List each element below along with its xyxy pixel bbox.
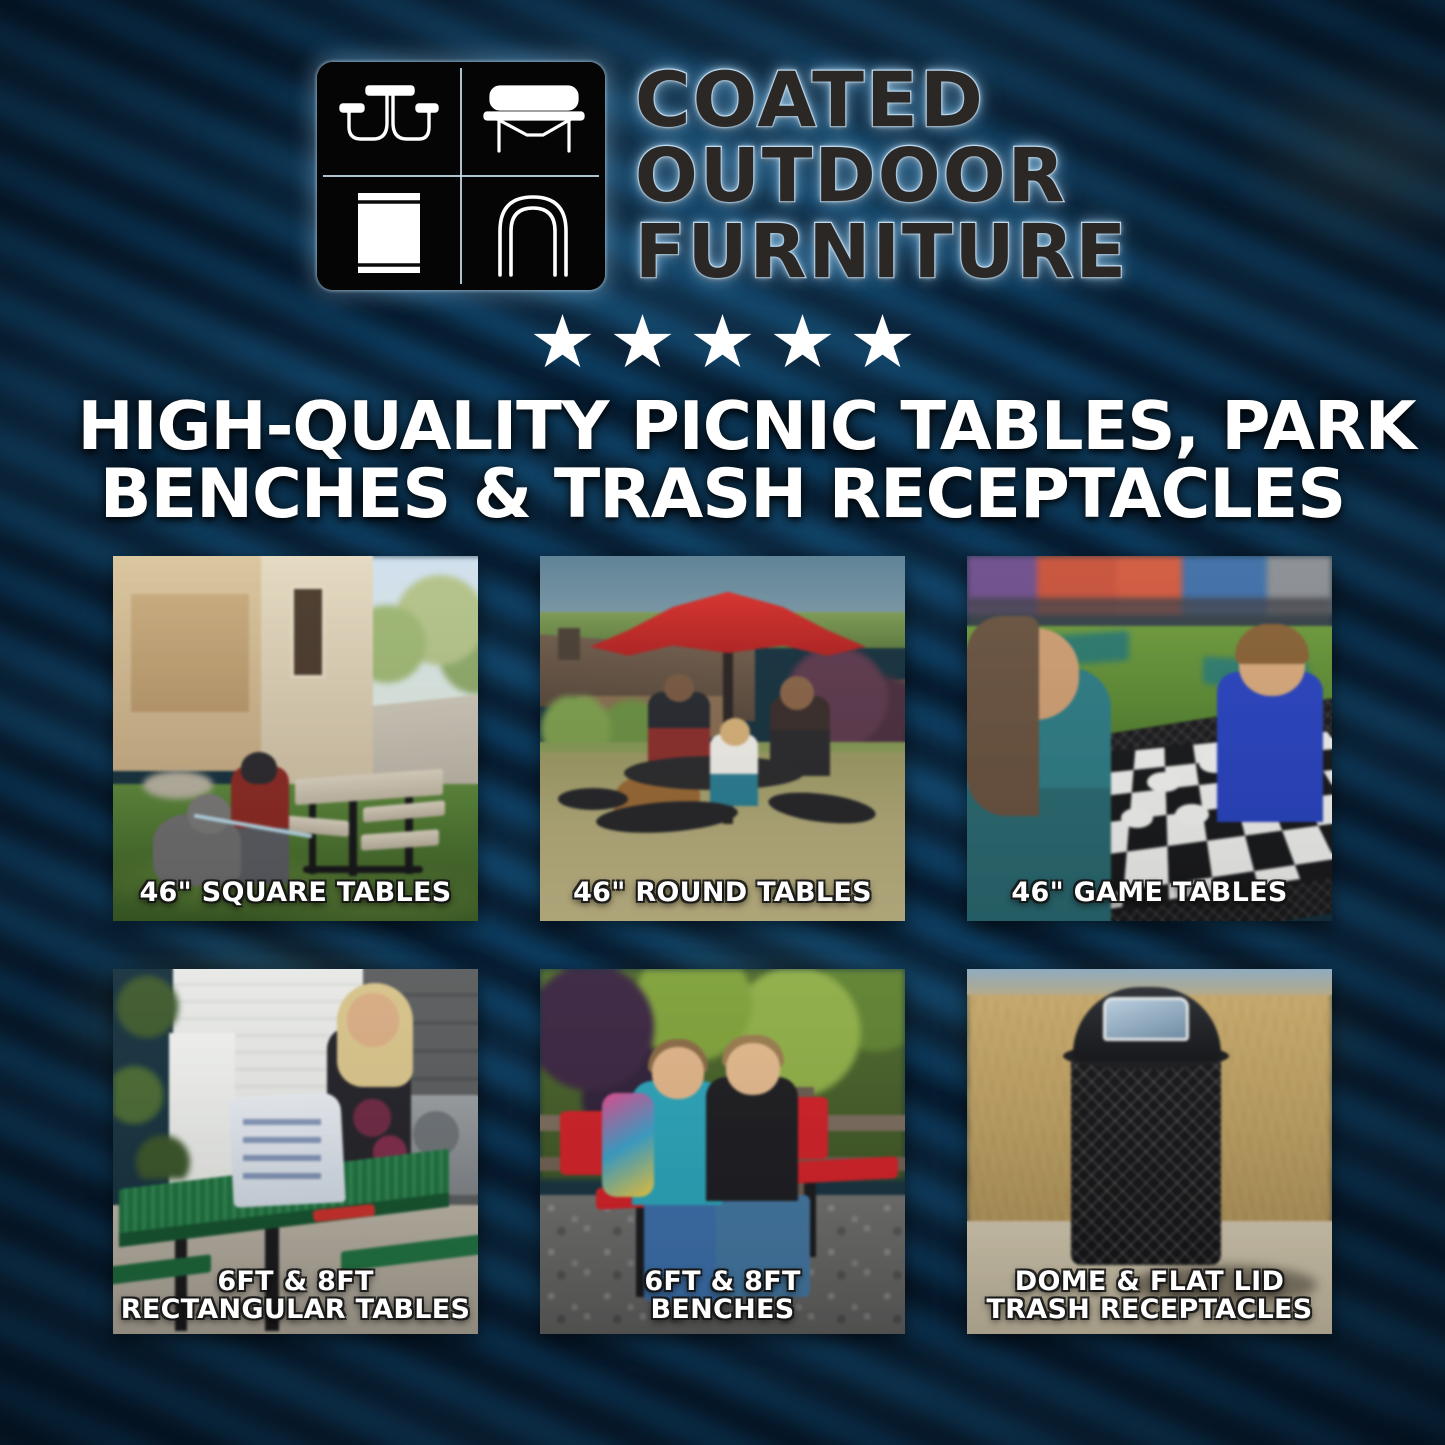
poster-content: COATED OUTDOOR FURNITURE HIGH-QUALITY PI… xyxy=(0,0,1445,1445)
brand-word-1: COATED xyxy=(635,63,1128,137)
product-photo-square-tables xyxy=(113,556,478,921)
product-card-game-tables[interactable]: 46" GAME TABLES xyxy=(967,556,1332,921)
product-grid: 46" SQUARE TABLES xyxy=(105,556,1340,1334)
star-icon-3 xyxy=(694,314,752,370)
product-caption-square-tables: 46" SQUARE TABLES xyxy=(113,879,478,907)
product-card-round-tables[interactable]: 46" ROUND TABLES xyxy=(540,556,905,921)
caption-line: 46" ROUND TABLES xyxy=(546,879,899,907)
product-card-rectangular-tables[interactable]: 6FT & 8FT RECTANGULAR TABLES xyxy=(113,969,478,1334)
product-caption-benches: 6FT & 8FT BENCHES xyxy=(540,1268,905,1324)
picnic-table-icon xyxy=(317,62,461,176)
bench-icon xyxy=(461,62,605,176)
star-icon-1 xyxy=(534,314,592,370)
product-card-square-tables[interactable]: 46" SQUARE TABLES xyxy=(113,556,478,921)
brand-logo-lockup[interactable]: COATED OUTDOOR FURNITURE xyxy=(317,62,1128,290)
star-rating xyxy=(534,314,912,370)
product-caption-trash-receptacles: DOME & FLAT LID TRASH RECEPTACLES xyxy=(967,1268,1332,1324)
caption-line: 46" SQUARE TABLES xyxy=(119,879,472,907)
star-icon-5 xyxy=(854,314,912,370)
brand-word-3: FURNITURE xyxy=(635,217,1128,289)
logo-mark[interactable] xyxy=(317,62,605,290)
caption-line: 6FT & 8FT xyxy=(119,1268,472,1296)
product-photo-game-tables xyxy=(967,556,1332,921)
brand-word-2: OUTDOOR xyxy=(635,141,1128,213)
product-caption-game-tables: 46" GAME TABLES xyxy=(967,879,1332,907)
caption-line: RECTANGULAR TABLES xyxy=(119,1296,472,1324)
product-card-benches[interactable]: 6FT & 8FT BENCHES xyxy=(540,969,905,1334)
caption-line: 46" GAME TABLES xyxy=(973,879,1326,907)
product-card-trash-receptacles[interactable]: DOME & FLAT LID TRASH RECEPTACLES xyxy=(967,969,1332,1334)
star-icon-2 xyxy=(614,314,672,370)
caption-line: DOME & FLAT LID xyxy=(973,1268,1326,1296)
product-caption-round-tables: 46" ROUND TABLES xyxy=(540,879,905,907)
brand-wordmark: COATED OUTDOOR FURNITURE xyxy=(635,63,1128,288)
product-caption-rectangular-tables: 6FT & 8FT RECTANGULAR TABLES xyxy=(113,1268,478,1324)
headline-line-1: HIGH-QUALITY PICNIC TABLES, PARK xyxy=(78,392,1368,460)
poster-canvas: COATED OUTDOOR FURNITURE HIGH-QUALITY PI… xyxy=(0,0,1445,1445)
headline: HIGH-QUALITY PICNIC TABLES, PARK BENCHES… xyxy=(78,392,1368,530)
caption-line: 6FT & 8FT xyxy=(546,1268,899,1296)
trash-receptacle-icon xyxy=(317,176,461,290)
caption-line: BENCHES xyxy=(546,1296,899,1324)
star-icon-4 xyxy=(774,314,832,370)
bike-rack-icon xyxy=(461,176,605,290)
caption-line: TRASH RECEPTACLES xyxy=(973,1296,1326,1324)
product-photo-round-tables xyxy=(540,556,905,921)
headline-line-2: BENCHES & TRASH RECEPTACLES xyxy=(78,460,1368,529)
